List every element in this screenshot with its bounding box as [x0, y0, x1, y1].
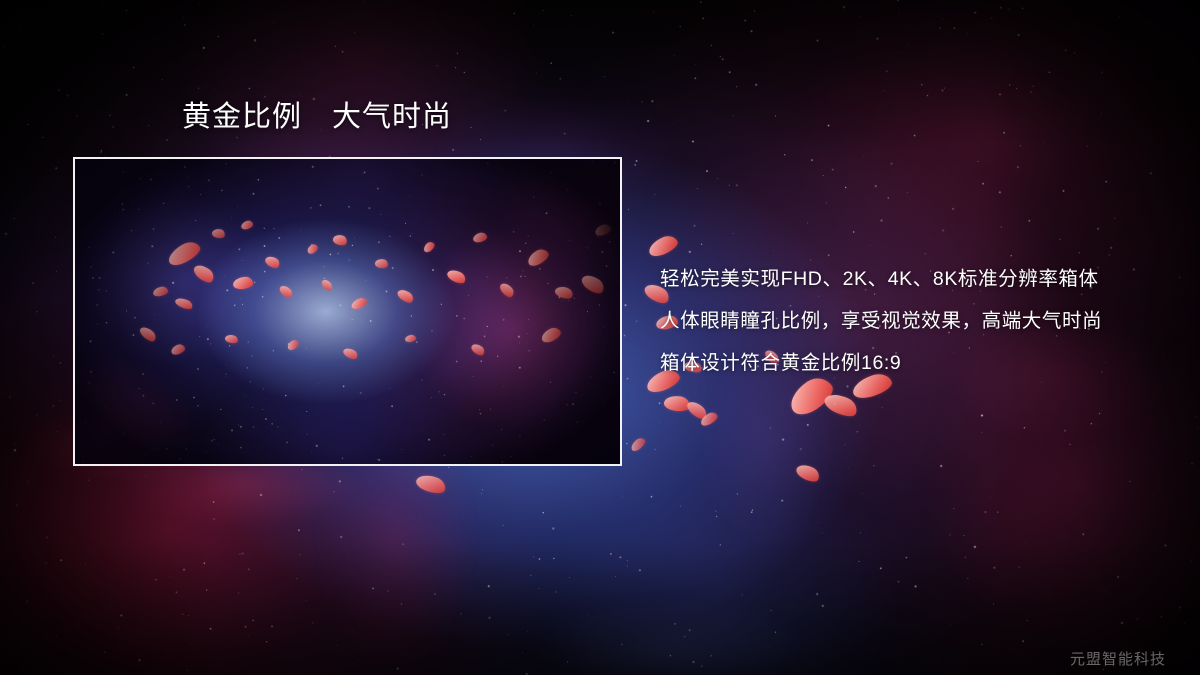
brand-watermark: 元盟智能科技 [1070, 650, 1166, 670]
feature-description-line-3: 箱体设计符合黄金比例16:9 [660, 342, 1160, 384]
flower-petal [414, 472, 447, 496]
flower-petal [629, 436, 647, 453]
flower-petal [699, 410, 720, 428]
preview-nebula-artwork [75, 159, 620, 464]
feature-description-block: 轻松完美实现FHD、2K、4K、8K标准分辨率箱体 人体眼睛瞳孔比例，享受视觉效… [660, 258, 1160, 384]
flower-petal [822, 390, 860, 420]
flower-petal [663, 394, 691, 412]
page-title: 黄金比例 大气时尚 [182, 103, 452, 132]
flower-petal [685, 398, 710, 421]
feature-description-line-1: 轻松完美实现FHD、2K、4K、8K标准分辨率箱体 [660, 258, 1160, 300]
flower-petal [646, 233, 680, 260]
flower-petal [794, 461, 822, 484]
feature-description-line-2: 人体眼睛瞳孔比例，享受视觉效果，高端大气时尚 [660, 300, 1160, 342]
led-cabinet-preview-frame[interactable] [73, 157, 622, 466]
presentation-slide: 黄金比例 大气时尚 轻松完美实现FHD、2K、4K、8K标准分辨率箱体 人体眼睛… [0, 0, 1200, 675]
